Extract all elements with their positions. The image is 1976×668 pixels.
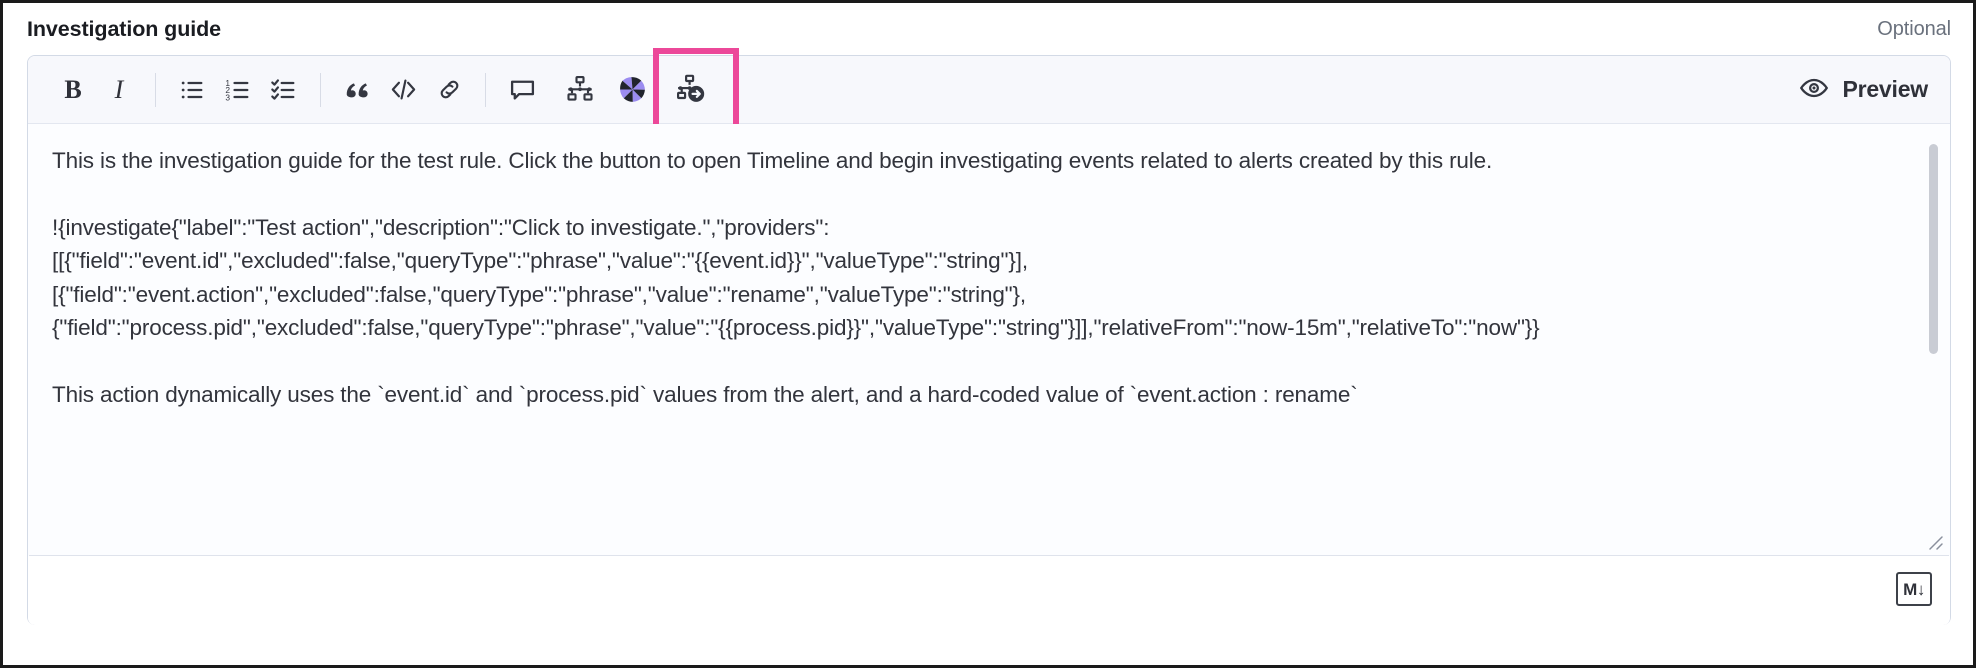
blockquote-button[interactable] — [334, 67, 380, 113]
resize-handle[interactable] — [1923, 530, 1945, 552]
eye-icon — [1799, 73, 1829, 106]
bold-button[interactable]: B — [50, 67, 96, 113]
unordered-list-button[interactable] — [169, 67, 215, 113]
bullet-list-icon — [178, 76, 206, 104]
toolbar-divider — [320, 73, 321, 107]
investigate-json-line: [{"field":"event.action","excluded":fals… — [52, 278, 1908, 312]
link-icon — [436, 76, 463, 103]
markdown-badge-label: M↓ — [1903, 581, 1925, 598]
investigate-action-button[interactable] — [667, 67, 713, 113]
investigate-timeline-icon — [675, 74, 706, 105]
timeline-graph-icon — [565, 75, 595, 105]
numbered-list-icon: 1 2 3 — [224, 76, 252, 104]
preview-button[interactable]: Preview — [1791, 69, 1932, 110]
italic-button[interactable]: I — [96, 67, 142, 113]
guide-paragraph-1: This is the investigation guide for the … — [52, 144, 1908, 178]
field-header: Investigation guide Optional — [3, 3, 1973, 55]
page-title: Investigation guide — [27, 17, 221, 42]
preview-label: Preview — [1842, 76, 1928, 103]
svg-text:3: 3 — [225, 92, 230, 102]
comment-icon — [508, 75, 537, 104]
code-icon — [389, 75, 418, 104]
investigate-json-line: !{investigate{"label":"Test action","des… — [52, 211, 1908, 245]
ordered-list-button[interactable]: 1 2 3 — [215, 67, 261, 113]
markdown-editor: B I — [27, 55, 1951, 625]
code-block-button[interactable] — [380, 67, 426, 113]
optional-badge: Optional — [1877, 18, 1951, 41]
checklist-icon — [270, 76, 298, 104]
investigation-guide-panel: Investigation guide Optional B I — [0, 0, 1976, 668]
toolbar-divider — [485, 73, 486, 107]
vertical-scrollbar-thumb[interactable] — [1929, 144, 1938, 354]
osquery-pinwheel-icon — [617, 74, 648, 105]
editor-footer: M↓ — [28, 556, 1950, 625]
quote-icon — [343, 76, 371, 104]
vertical-scrollbar-track[interactable] — [1935, 134, 1944, 546]
link-button[interactable] — [426, 67, 472, 113]
markdown-textarea[interactable]: This is the investigation guide for the … — [28, 124, 1950, 556]
comment-button[interactable] — [499, 67, 545, 113]
insert-timeline-button[interactable] — [557, 67, 603, 113]
investigate-json-line: [[{"field":"event.id","excluded":false,"… — [52, 244, 1908, 278]
task-list-button[interactable] — [261, 67, 307, 113]
guide-paragraph-3: This action dynamically uses the `event.… — [52, 378, 1908, 412]
osquery-button[interactable] — [609, 67, 655, 113]
guide-paragraph-2: !{investigate{"label":"Test action","des… — [52, 211, 1908, 345]
markdown-help-button[interactable]: M↓ — [1896, 572, 1932, 606]
investigate-json-line: {"field":"process.pid","excluded":false,… — [52, 311, 1908, 345]
editor-toolbar: B I — [28, 56, 1950, 124]
toolbar-divider — [155, 73, 156, 107]
